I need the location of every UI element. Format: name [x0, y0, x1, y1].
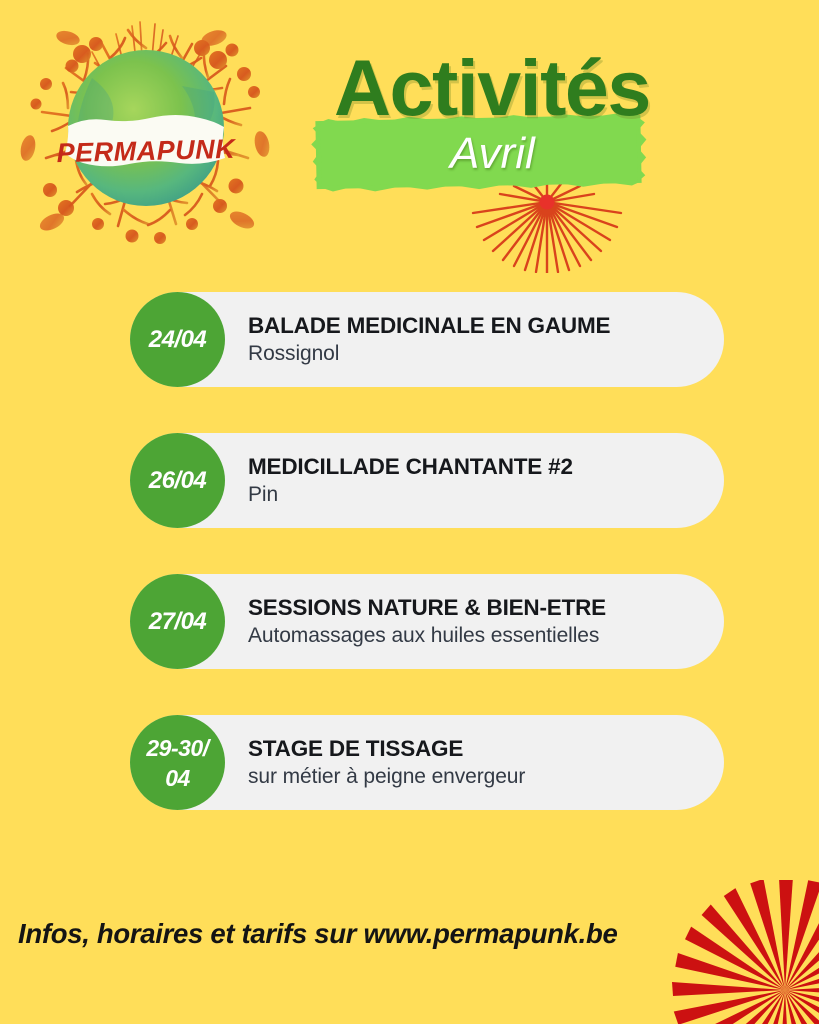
event-subtitle: Rossignol: [248, 340, 700, 367]
event-text-block: STAGE DE TISSAGE sur métier à peigne env…: [248, 715, 700, 810]
event-text-block: SESSIONS NATURE & BIEN-ETRE Automassages…: [248, 574, 700, 669]
page-subtitle-month: Avril: [450, 132, 535, 176]
page-title: Activités: [334, 48, 650, 127]
event-date-badge: 26/04: [130, 433, 225, 528]
events-list: 24/04 BALADE MEDICINALE EN GAUME Rossign…: [130, 292, 724, 856]
event-row-4[interactable]: 29-30/ 04 STAGE DE TISSAGE sur métier à …: [130, 715, 724, 810]
poster-canvas: PERMAPUNK Activités Avril: [0, 0, 819, 1024]
event-date-text: 24/04: [149, 327, 207, 353]
event-date-text: 27/04: [149, 609, 207, 635]
event-row-2[interactable]: 26/04 MEDICILLADE CHANTANTE #2 Pin: [130, 433, 724, 528]
event-title: BALADE MEDICINALE EN GAUME: [248, 312, 700, 339]
event-row-3[interactable]: 27/04 SESSIONS NATURE & BIEN-ETRE Automa…: [130, 574, 724, 669]
event-date-text: 29-30/ 04: [146, 733, 208, 793]
event-title: STAGE DE TISSAGE: [248, 735, 700, 762]
permapunk-logo: PERMAPUNK: [6, 8, 286, 263]
event-row-1[interactable]: 24/04 BALADE MEDICINALE EN GAUME Rossign…: [130, 292, 724, 387]
event-date-badge: 24/04: [130, 292, 225, 387]
event-title: SESSIONS NATURE & BIEN-ETRE: [248, 594, 700, 621]
event-date-badge: 27/04: [130, 574, 225, 669]
event-subtitle: Pin: [248, 481, 700, 508]
event-date-text: 26/04: [149, 468, 207, 494]
sunburst-top-icon: [470, 178, 625, 273]
event-subtitle: Automassages aux huiles essentielles: [248, 622, 700, 649]
footer-info-text: Infos, horaires et tarifs sur www.permap…: [18, 918, 618, 950]
event-subtitle: sur métier à peigne envergeur: [248, 763, 700, 790]
sunburst-bottom-icon: [672, 880, 819, 1024]
event-text-block: BALADE MEDICINALE EN GAUME Rossignol: [248, 292, 700, 387]
svg-text:PERMAPUNK: PERMAPUNK: [56, 134, 237, 168]
event-title: MEDICILLADE CHANTANTE #2: [248, 453, 700, 480]
event-text-block: MEDICILLADE CHANTANTE #2 Pin: [248, 433, 700, 528]
event-date-badge: 29-30/ 04: [130, 715, 225, 810]
